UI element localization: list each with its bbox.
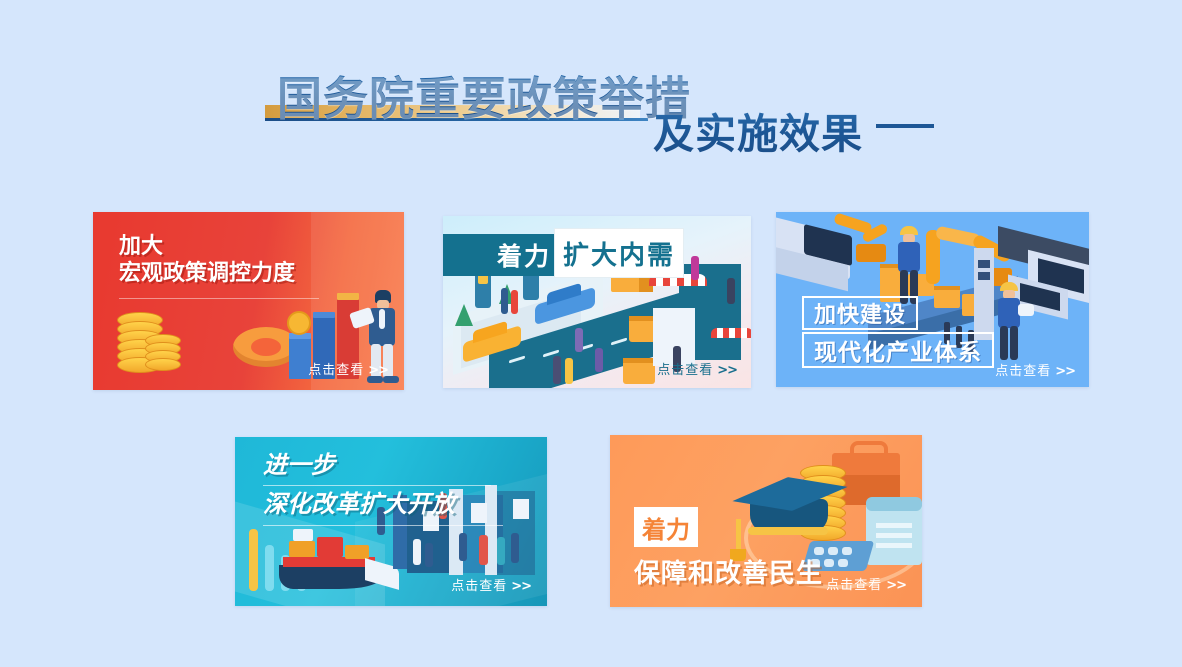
card3-title-box-line1: 加快建设 bbox=[802, 296, 918, 330]
policy-card-reform-opening[interactable]: 进一步 深化改革扩大开放 点击查看>> bbox=[235, 437, 547, 606]
title-end-dash bbox=[876, 124, 934, 128]
policy-card-macro-control[interactable]: 加大 宏观政策调控力度 点击查看>> bbox=[93, 212, 404, 390]
policy-card-domestic-demand[interactable]: 着力 扩大内需 点击查看>> bbox=[443, 216, 751, 388]
page-header: 国务院重要政策举措 及实施效果 bbox=[0, 0, 1182, 180]
card1-title-line1: 加大 bbox=[119, 234, 295, 261]
card1-title: 加大 宏观政策调控力度 bbox=[119, 234, 295, 288]
page-title: 国务院重要政策举措 bbox=[277, 62, 691, 127]
card3-cta-arrow-icon: >> bbox=[1055, 364, 1075, 379]
card2-title-box-primary: 着力 bbox=[443, 234, 561, 276]
card1-cta-arrow-icon: >> bbox=[368, 363, 388, 378]
card4-cta[interactable]: 点击查看>> bbox=[451, 575, 531, 594]
card3-cta-label: 点击查看 bbox=[995, 364, 1051, 379]
card2-cta-label: 点击查看 bbox=[657, 363, 713, 378]
card3-title-box-line2: 现代化产业体系 bbox=[802, 332, 994, 368]
card1-cta-label: 点击查看 bbox=[308, 363, 364, 378]
card4-cta-arrow-icon: >> bbox=[511, 579, 531, 594]
card1-title-rule bbox=[119, 298, 319, 299]
card4-title-rule-2 bbox=[263, 525, 503, 526]
card5-title-line1: 着力 bbox=[637, 510, 695, 544]
card4-title-line2: 深化改革扩大开放 bbox=[263, 490, 455, 519]
card5-title-box: 着力 bbox=[634, 507, 698, 547]
card3-title-line2: 现代化产业体系 bbox=[814, 333, 982, 367]
card1-cta[interactable]: 点击查看>> bbox=[308, 359, 388, 378]
card5-cta-arrow-icon: >> bbox=[886, 578, 906, 593]
card5-cta-label: 点击查看 bbox=[826, 578, 882, 593]
card4-cta-label: 点击查看 bbox=[451, 579, 507, 594]
card2-title-box-secondary: 扩大内需 bbox=[554, 228, 684, 278]
card5-title-line2: 保障和改善民生 bbox=[634, 553, 823, 590]
card4-title-rule-1 bbox=[263, 485, 491, 486]
card2-title-line2: 扩大内需 bbox=[563, 235, 675, 272]
card2-cta-arrow-icon: >> bbox=[717, 363, 737, 378]
card5-cta[interactable]: 点击查看>> bbox=[826, 574, 906, 593]
card2-title-line1: 着力 bbox=[497, 237, 551, 273]
policy-card-modern-industry[interactable]: 加快建设 现代化产业体系 点击查看>> bbox=[776, 212, 1089, 387]
policy-card-livelihood[interactable]: 着力 保障和改善民生 点击查看>> bbox=[610, 435, 922, 607]
page-root: 国务院重要政策举措 及实施效果 bbox=[0, 0, 1182, 667]
card3-cta[interactable]: 点击查看>> bbox=[995, 360, 1075, 379]
card1-title-line2: 宏观政策调控力度 bbox=[119, 261, 295, 288]
card4-title-line1: 进一步 bbox=[263, 451, 455, 480]
card2-cta[interactable]: 点击查看>> bbox=[657, 359, 737, 378]
page-subtitle: 及实施效果 bbox=[653, 100, 863, 160]
card3-title-line1: 加快建设 bbox=[814, 297, 906, 329]
